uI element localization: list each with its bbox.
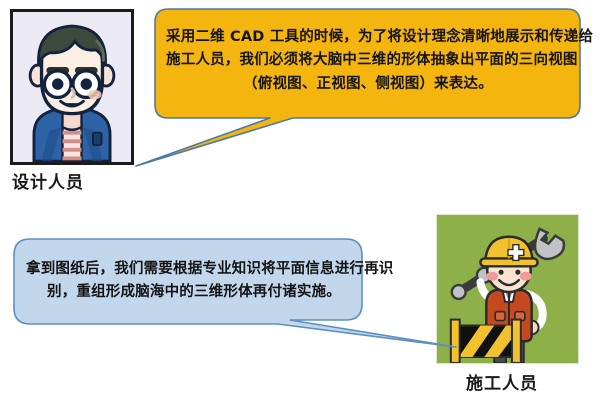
yellow-line-2: 施工人员，我们必须将大脑中三维的形体抽象出平面的三向视图 [166,49,570,72]
construction-worker-avatar-icon [437,215,578,363]
yellow-bubble-text: 采用二维 CAD 工具的时候，为了将设计理念清晰地展示和传递给 施工人员，我们必… [166,26,570,96]
worker-avatar-image [436,214,579,364]
slide-canvas: 设计人员 [0,0,600,404]
yellow-line-3: （俯视图、正视图、侧视图）来表达。 [166,73,570,96]
blue-bubble-text: 拿到图纸后，我们需要根据专业知识将平面信息进行再识 别，重组形成脑海中的三维形体… [26,258,362,305]
designer-label: 设计人员 [12,168,84,193]
blue-line-1: 拿到图纸后，我们需要根据专业知识将平面信息进行再识 [26,258,362,281]
worker-label: 施工人员 [466,369,538,394]
designer-avatar-icon [13,12,131,162]
blue-line-2: 别，重组形成脑海中的三维形体再付诸实施。 [26,281,362,304]
designer-avatar-image [10,9,134,165]
yellow-line-1: 采用二维 CAD 工具的时候，为了将设计理念清晰地展示和传递给 [166,26,570,49]
